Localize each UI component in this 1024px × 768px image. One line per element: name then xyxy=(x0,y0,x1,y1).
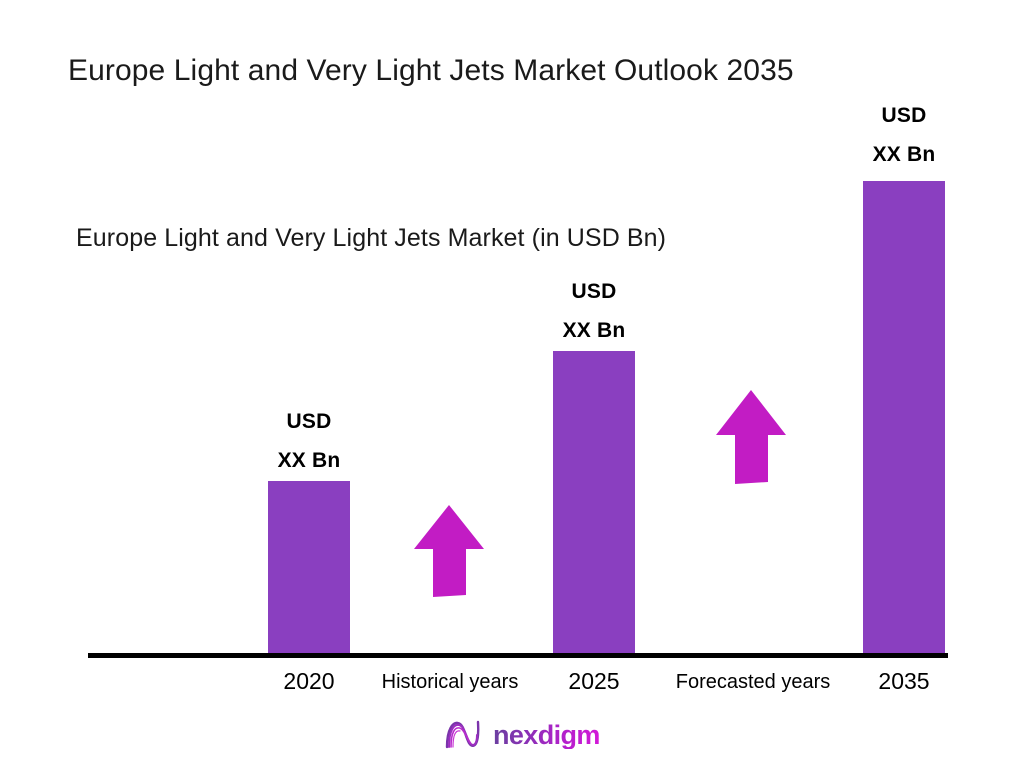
bar-label-2025-line2: XX Bn xyxy=(524,312,664,351)
growth-arrow-forecast xyxy=(716,390,786,484)
bar-2020[interactable] xyxy=(268,481,350,655)
chart-canvas: Europe Light and Very Light Jets Market … xyxy=(0,0,1024,768)
bar-label-2020-line1: USD xyxy=(239,403,379,442)
bar-label-2020-line2: XX Bn xyxy=(239,442,379,481)
up-arrow-icon xyxy=(716,390,786,484)
axis-tick-2020: 2020 xyxy=(249,668,369,695)
nexdigm-logo: nexdigm xyxy=(443,718,600,752)
bar-2035[interactable] xyxy=(863,181,945,655)
bar-label-2035-line2: XX Bn xyxy=(834,136,974,175)
axis-tick-2025: 2025 xyxy=(534,668,654,695)
axis-tick-2035: 2035 xyxy=(844,668,964,695)
up-arrow-icon xyxy=(414,505,484,597)
bar-label-2025-line1: USD xyxy=(524,273,664,312)
bar-2025[interactable] xyxy=(553,351,635,655)
nexdigm-mark-icon xyxy=(443,718,485,752)
bar-label-2035: USD XX Bn xyxy=(834,97,974,175)
growth-arrow-historical xyxy=(414,505,484,597)
plot-area: USD XX Bn USD XX Bn USD XX Bn 2020 Histo… xyxy=(0,0,1024,768)
axis-tick-historical-years: Historical years xyxy=(355,671,545,694)
x-axis-line xyxy=(88,653,948,658)
bar-label-2035-line1: USD xyxy=(834,97,974,136)
nexdigm-wordmark: nexdigm xyxy=(493,722,600,749)
bar-label-2025: USD XX Bn xyxy=(524,273,664,351)
axis-tick-forecasted-years: Forecasted years xyxy=(653,671,853,694)
bar-label-2020: USD XX Bn xyxy=(239,403,379,481)
